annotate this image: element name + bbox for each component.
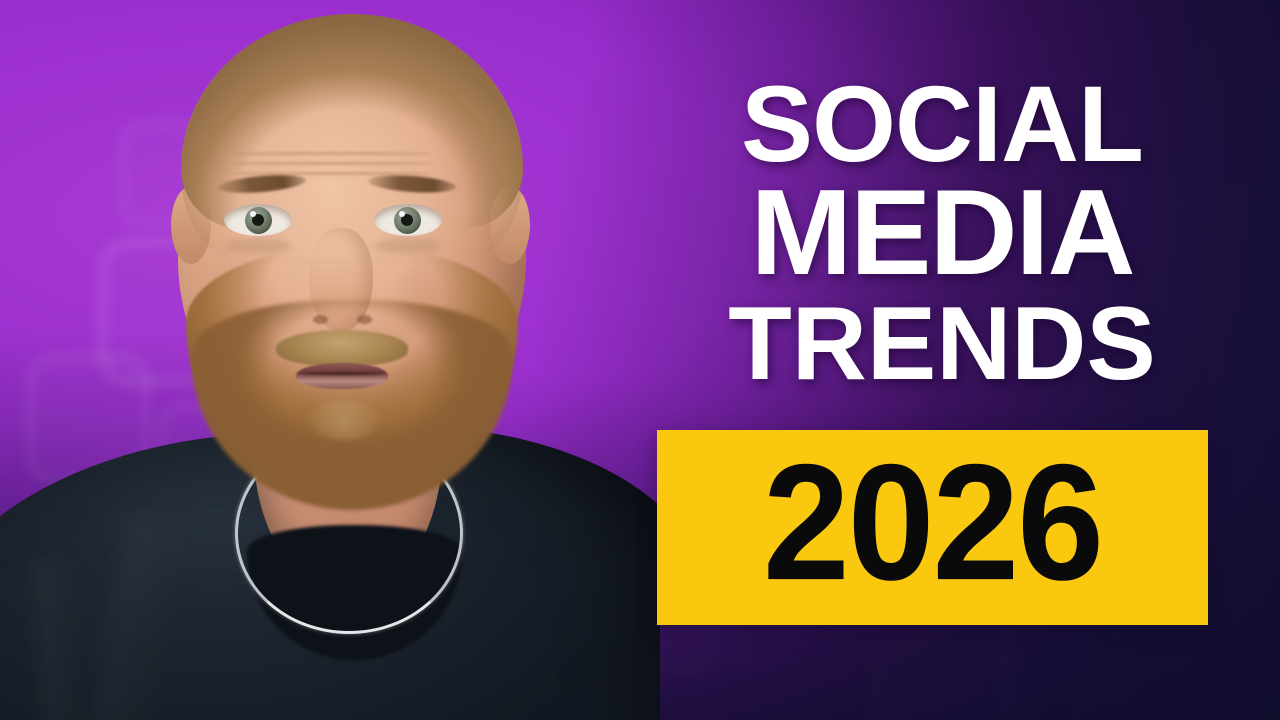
eye-highlight-right	[399, 211, 405, 217]
chin-highlight	[308, 400, 380, 440]
headline-line-social: SOCIAL	[652, 74, 1232, 174]
video-thumbnail: SOCIAL MEDIA TRENDS 2026	[0, 0, 1280, 720]
headline-line-media: MEDIA	[652, 176, 1232, 289]
year-badge: 2026	[657, 430, 1208, 625]
moustache	[276, 330, 408, 366]
lip-line	[300, 372, 384, 375]
forehead-wrinkle-line	[232, 162, 432, 165]
subject-portrait	[0, 0, 660, 720]
year-badge-label: 2026	[763, 440, 1102, 605]
mouth	[296, 363, 388, 389]
headline-line-trends: TRENDS	[652, 296, 1232, 393]
forehead-wrinkle-line	[232, 152, 432, 155]
headline-block: SOCIAL MEDIA TRENDS	[652, 74, 1232, 393]
under-eye-shadow-left	[225, 238, 291, 254]
eye-highlight-left	[250, 211, 256, 217]
